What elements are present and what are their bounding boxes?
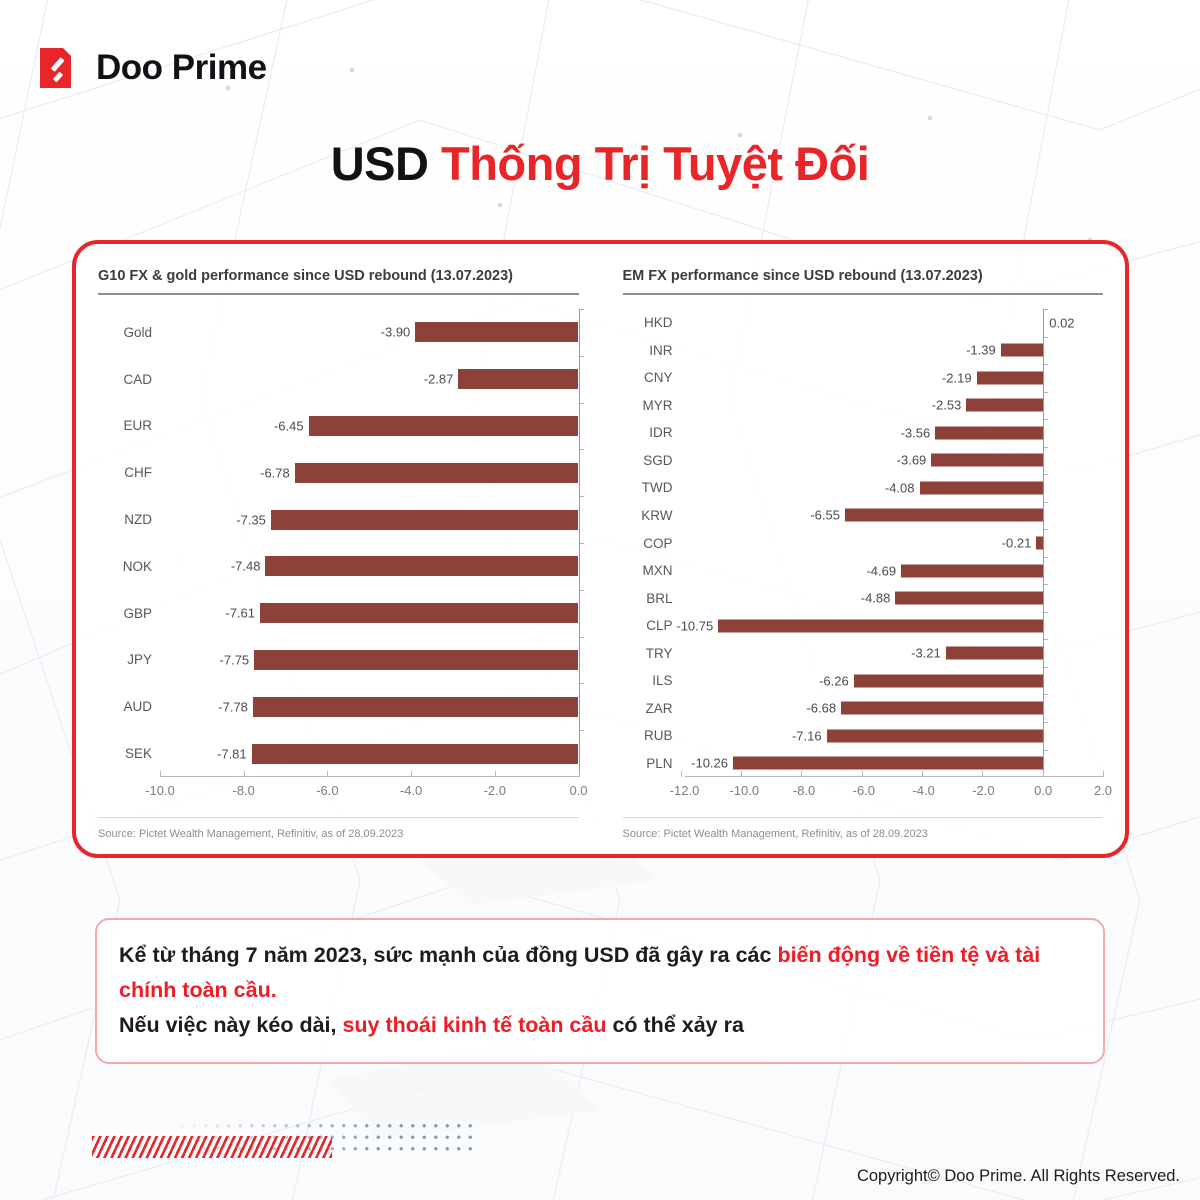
chart-bar-row: RUB-7.16 [623, 722, 1104, 750]
chart-bar-row: JPY-7.75 [98, 637, 579, 684]
x-axis-tick-mark [1103, 771, 1104, 777]
x-axis-tick-mark [495, 771, 496, 777]
chart-source-em: Source: Pictet Wealth Management, Refini… [623, 817, 1104, 840]
chart-bar-track: -3.69 [681, 447, 1104, 475]
chart-bar-row: SGD-3.69 [623, 447, 1104, 475]
chart-category-label: SGD [623, 453, 681, 468]
stripe-bar-decoration [92, 1136, 332, 1158]
chart-bar-track: -7.48 [160, 543, 579, 590]
chart-bar-track: -3.56 [681, 419, 1104, 447]
x-axis-tick-mark [801, 771, 802, 777]
chart-category-label: KRW [623, 508, 681, 523]
page-title: USD Thống Trị Tuyệt Đối [0, 136, 1200, 191]
caption-callout: Kể từ tháng 7 năm 2023, sức mạnh của đồn… [95, 918, 1105, 1064]
chart-bar-track: -4.88 [681, 584, 1104, 612]
chart-value-label: -3.21 [911, 646, 941, 661]
doo-prime-logo-icon [38, 46, 82, 90]
x-axis-labels-em: -12.0-10.0-8.0-6.0-4.0-2.00.02.0 [685, 783, 1104, 803]
chart-bar [895, 592, 1042, 605]
chart-bar-track: 0.02 [681, 309, 1104, 337]
chart-value-label: -7.35 [236, 512, 266, 527]
x-axis-tick-mark [741, 771, 742, 777]
chart-category-label: INR [623, 343, 681, 358]
chart-bar-row: MYR-2.53 [623, 392, 1104, 420]
chart-bar-row: INR-1.39 [623, 337, 1104, 365]
x-axis-tick-label: -2.0 [972, 783, 994, 798]
chart-plot-em: HKD0.02INR-1.39CNY-2.19MYR-2.53IDR-3.56S… [623, 309, 1104, 811]
chart-category-label: MYR [623, 398, 681, 413]
chart-category-label: CAD [98, 372, 160, 387]
chart-value-label: -6.55 [810, 508, 840, 523]
zero-baseline [1043, 309, 1044, 777]
chart-category-label: CNY [623, 370, 681, 385]
brand-logo: Doo Prime [38, 46, 267, 90]
x-axis-tick-label: -4.0 [400, 783, 422, 798]
chart-bar [931, 454, 1042, 467]
chart-value-label: -10.75 [676, 618, 713, 633]
x-axis-tick-mark [862, 771, 863, 777]
chart-source-g10: Source: Pictet Wealth Management, Refini… [98, 817, 579, 840]
chart-bar-row: ZAR-6.68 [623, 694, 1104, 722]
chart-bar-track: -7.16 [681, 722, 1104, 750]
chart-bar [458, 369, 578, 389]
chart-category-label: IDR [623, 425, 681, 440]
chart-bar-track: -7.75 [160, 637, 579, 684]
chart-category-label: MXN [623, 563, 681, 578]
chart-panel-em: EM FX performance since USD rebound (13.… [601, 244, 1126, 854]
chart-bar [935, 426, 1042, 439]
page-title-black: USD [331, 137, 441, 190]
chart-bar [733, 757, 1043, 770]
chart-bar-track: -6.55 [681, 502, 1104, 530]
chart-category-label: RUB [623, 728, 681, 743]
chart-value-label: -7.78 [218, 699, 248, 714]
x-axis-tick-label: 2.0 [1094, 783, 1112, 798]
x-axis-tick-label: -8.0 [232, 783, 254, 798]
chart-value-label: -3.56 [901, 425, 931, 440]
chart-bar [295, 463, 579, 483]
chart-value-label: -4.08 [885, 480, 915, 495]
chart-bar-row: NOK-7.48 [98, 543, 579, 590]
x-axis-tick-mark [160, 771, 161, 777]
chart-value-label: -7.16 [792, 728, 822, 743]
chart-bar-track: -3.90 [160, 309, 579, 356]
caption-line-1-plain: Kể từ tháng 7 năm 2023, sức mạnh của đồn… [119, 943, 777, 967]
chart-bar-track: -7.81 [160, 730, 579, 777]
chart-plot-g10: Gold-3.90CAD-2.87EUR-6.45CHF-6.78NZD-7.3… [98, 309, 579, 811]
chart-category-label: NOK [98, 559, 160, 574]
chart-bar-row: IDR-3.56 [623, 419, 1104, 447]
caption-line-2-highlight: suy thoái kinh tế toàn cầu [342, 1013, 606, 1037]
chart-bar-row: COP-0.21 [623, 529, 1104, 557]
chart-bar [415, 322, 578, 342]
chart-bar-track: -4.69 [681, 557, 1104, 585]
chart-bar-track: -6.45 [160, 403, 579, 450]
x-axis-tick-mark [327, 771, 328, 777]
chart-value-label: -7.48 [231, 559, 261, 574]
chart-bar-row: HKD0.02 [623, 309, 1104, 337]
chart-category-label: Gold [98, 325, 160, 340]
chart-bar-track: -10.75 [681, 612, 1104, 640]
chart-bar [827, 729, 1043, 742]
chart-bar [920, 481, 1043, 494]
chart-value-label: -7.61 [225, 606, 255, 621]
chart-bar-track: -6.26 [681, 667, 1104, 695]
chart-value-label: -2.53 [932, 398, 962, 413]
chart-category-label: SEK [98, 746, 160, 761]
chart-value-label: 0.02 [1049, 315, 1074, 330]
x-axis-tick-mark [579, 771, 580, 777]
x-axis-tick-label: -8.0 [793, 783, 815, 798]
chart-category-label: CLP [623, 618, 681, 633]
chart-title-em: EM FX performance since USD rebound (13.… [623, 268, 1104, 295]
chart-bar-row: TWD-4.08 [623, 474, 1104, 502]
chart-bar-track: -1.39 [681, 337, 1104, 365]
chart-bar-row: PLN-10.26 [623, 750, 1104, 778]
chart-panel-g10: G10 FX & gold performance since USD rebo… [76, 244, 601, 854]
x-axis-tick-mark [1043, 771, 1044, 777]
chart-bar-track: -6.78 [160, 449, 579, 496]
x-axis-labels-g10: -10.0-8.0-6.0-4.0-2.00.0 [160, 783, 579, 803]
chart-bar-row: EUR-6.45 [98, 403, 579, 450]
chart-value-label: -2.87 [424, 372, 454, 387]
chart-bar-row: AUD-7.78 [98, 683, 579, 730]
chart-value-label: -3.69 [897, 453, 927, 468]
chart-value-label: -6.45 [274, 418, 304, 433]
chart-bar-track: -2.87 [160, 356, 579, 403]
chart-bar [254, 650, 578, 670]
x-axis-tick-label: -2.0 [484, 783, 506, 798]
chart-bar-row: CNY-2.19 [623, 364, 1104, 392]
chart-value-label: -4.88 [861, 591, 891, 606]
chart-value-label: -4.69 [866, 563, 896, 578]
x-axis-tick-mark [411, 771, 412, 777]
chart-value-label: -7.75 [220, 652, 250, 667]
chart-bar-track: -6.68 [681, 694, 1104, 722]
chart-category-label: NZD [98, 512, 160, 527]
chart-category-label: PLN [623, 756, 681, 771]
x-axis-tick-label: -6.0 [316, 783, 338, 798]
chart-bar [252, 744, 579, 764]
chart-bar [901, 564, 1043, 577]
chart-value-label: -6.68 [806, 701, 836, 716]
chart-bar-track: -7.35 [160, 496, 579, 543]
chart-bar-row: KRW-6.55 [623, 502, 1104, 530]
chart-value-label: -0.21 [1002, 536, 1032, 551]
chart-value-label: -3.90 [381, 325, 411, 340]
x-axis-tick-label: -12.0 [670, 783, 700, 798]
chart-bar-row: NZD-7.35 [98, 496, 579, 543]
chart-bar-row: MXN-4.69 [623, 557, 1104, 585]
chart-category-label: TRY [623, 646, 681, 661]
x-axis-tick-mark [982, 771, 983, 777]
chart-value-label: -2.19 [942, 370, 972, 385]
chart-bar [309, 416, 579, 436]
chart-bar-track: -7.61 [160, 590, 579, 637]
chart-bar-row: SEK-7.81 [98, 730, 579, 777]
chart-value-label: -1.39 [966, 343, 996, 358]
x-axis-tick-label: -10.0 [145, 783, 175, 798]
x-axis-tick-label: -6.0 [853, 783, 875, 798]
caption-line-2-plain-a: Nếu việc này kéo dài, [119, 1013, 342, 1037]
chart-bar [260, 603, 578, 623]
chart-bar-row: BRL-4.88 [623, 584, 1104, 612]
x-axis-tick-label: 0.0 [569, 783, 587, 798]
chart-category-label: AUD [98, 699, 160, 714]
chart-title-g10: G10 FX & gold performance since USD rebo… [98, 268, 579, 295]
chart-value-label: -10.26 [691, 756, 728, 771]
caption-line-2-plain-b: có thể xảy ra [606, 1013, 743, 1037]
zero-baseline [579, 309, 580, 777]
chart-category-label: ILS [623, 673, 681, 688]
chart-bar-row: CHF-6.78 [98, 449, 579, 496]
chart-bars-g10: Gold-3.90CAD-2.87EUR-6.45CHF-6.78NZD-7.3… [98, 309, 579, 777]
x-axis-tick-mark [681, 771, 682, 777]
chart-bar [841, 702, 1043, 715]
chart-bar [1001, 344, 1043, 357]
chart-bar-track: -2.19 [681, 364, 1104, 392]
chart-bars-em: HKD0.02INR-1.39CNY-2.19MYR-2.53IDR-3.56S… [623, 309, 1104, 777]
chart-bar-track: -7.78 [160, 683, 579, 730]
chart-bar [966, 399, 1042, 412]
chart-bar-track: -3.21 [681, 639, 1104, 667]
chart-category-label: COP [623, 536, 681, 551]
x-axis-tick-mark [922, 771, 923, 777]
chart-bar-track: -10.26 [681, 750, 1104, 778]
brand-name: Doo Prime [96, 48, 267, 88]
chart-bar-row: Gold-3.90 [98, 309, 579, 356]
chart-value-label: -7.81 [217, 746, 247, 761]
x-axis-line-em [685, 776, 1104, 777]
x-axis-tick-label: -10.0 [729, 783, 759, 798]
chart-bar [845, 509, 1043, 522]
copyright-text: Copyright© Doo Prime. All Rights Reserve… [857, 1167, 1180, 1186]
chart-bar-row: CLP-10.75 [623, 612, 1104, 640]
chart-category-label: GBP [98, 606, 160, 621]
charts-card: G10 FX & gold performance since USD rebo… [72, 240, 1129, 858]
chart-bar [253, 697, 579, 717]
chart-bar-row: TRY-3.21 [623, 639, 1104, 667]
chart-bar [271, 510, 579, 530]
footer-decoration [88, 1118, 488, 1174]
chart-bar-track: -4.08 [681, 474, 1104, 502]
chart-value-label: -6.26 [819, 673, 849, 688]
caption-line-2: Nếu việc này kéo dài, suy thoái kinh tế … [119, 1008, 1081, 1043]
chart-category-label: TWD [623, 480, 681, 495]
chart-category-label: ZAR [623, 701, 681, 716]
chart-bar [977, 371, 1043, 384]
chart-bar-row: GBP-7.61 [98, 590, 579, 637]
x-axis-tick-label: 0.0 [1034, 783, 1052, 798]
chart-bar-track: -2.53 [681, 392, 1104, 420]
page-title-red: Thống Trị Tuyệt Đối [441, 137, 869, 190]
chart-bar-track: -0.21 [681, 529, 1104, 557]
logo-mark-svg [38, 46, 82, 90]
x-axis-line-g10 [160, 776, 579, 777]
chart-bar [946, 647, 1043, 660]
x-axis-tick-mark [244, 771, 245, 777]
chart-bar-row: CAD-2.87 [98, 356, 579, 403]
chart-bar-row: ILS-6.26 [623, 667, 1104, 695]
x-axis-tick-label: -4.0 [912, 783, 934, 798]
chart-category-label: JPY [98, 652, 160, 667]
caption-line-1: Kể từ tháng 7 năm 2023, sức mạnh của đồn… [119, 938, 1081, 1008]
chart-category-label: EUR [98, 418, 160, 433]
chart-value-label: -6.78 [260, 465, 290, 480]
chart-bar [265, 556, 578, 576]
chart-category-label: BRL [623, 591, 681, 606]
chart-bar [854, 674, 1043, 687]
chart-category-label: CHF [98, 465, 160, 480]
chart-category-label: HKD [623, 315, 681, 330]
chart-bar [718, 619, 1042, 632]
